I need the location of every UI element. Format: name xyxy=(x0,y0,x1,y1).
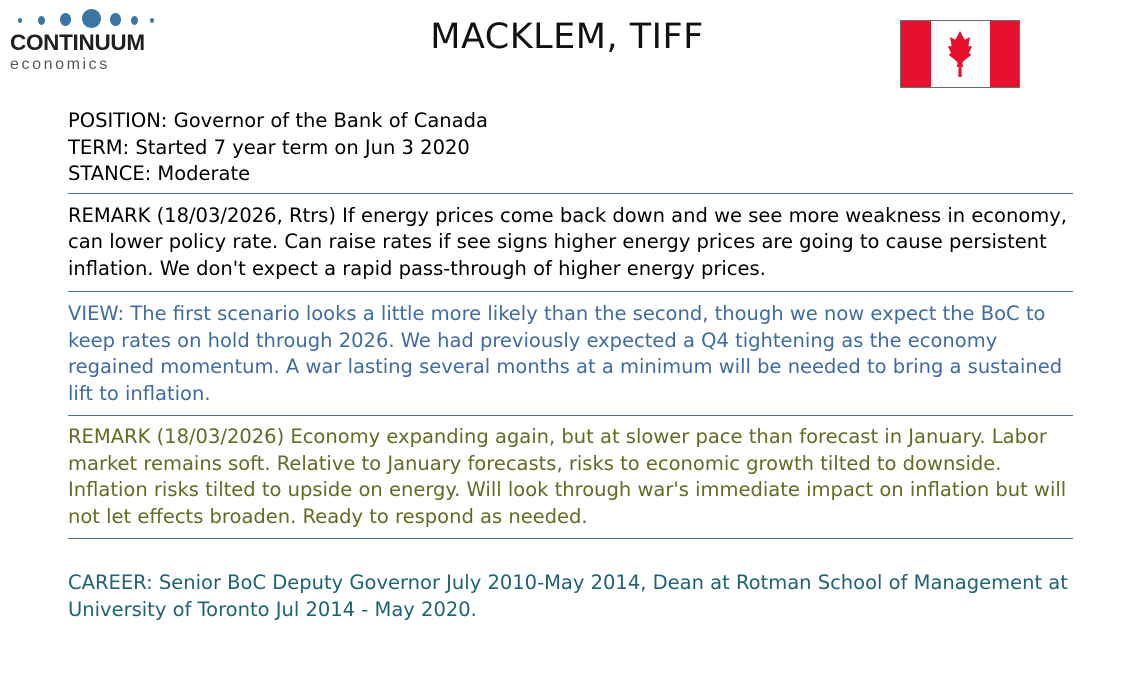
page-header: CONTINUUM economics MACKLEM, TIFF xyxy=(0,0,1134,100)
logo-brand-tagline: economics xyxy=(10,56,160,74)
canada-flag-icon xyxy=(900,20,1020,88)
view-statement: VIEW: The first scenario looks a little … xyxy=(68,292,1073,415)
profile-stance: STANCE: Moderate xyxy=(68,161,1073,188)
profile-meta-block: POSITION: Governor of the Bank of Canada… xyxy=(68,108,1073,193)
career-summary: CAREER: Senior BoC Deputy Governor July … xyxy=(68,539,1073,623)
maple-leaf-icon xyxy=(934,28,986,80)
remark-secondary: REMARK (18/03/2026) Economy expanding ag… xyxy=(68,416,1073,538)
flag-band-right xyxy=(990,21,1020,87)
flag-band-left xyxy=(901,21,931,87)
profile-term: TERM: Started 7 year term on Jun 3 2020 xyxy=(68,135,1073,162)
remark-primary: REMARK (18/03/2026, Rtrs) If energy pric… xyxy=(68,194,1073,292)
profile-position: POSITION: Governor of the Bank of Canada xyxy=(68,108,1073,135)
profile-content: POSITION: Governor of the Bank of Canada… xyxy=(68,108,1073,623)
